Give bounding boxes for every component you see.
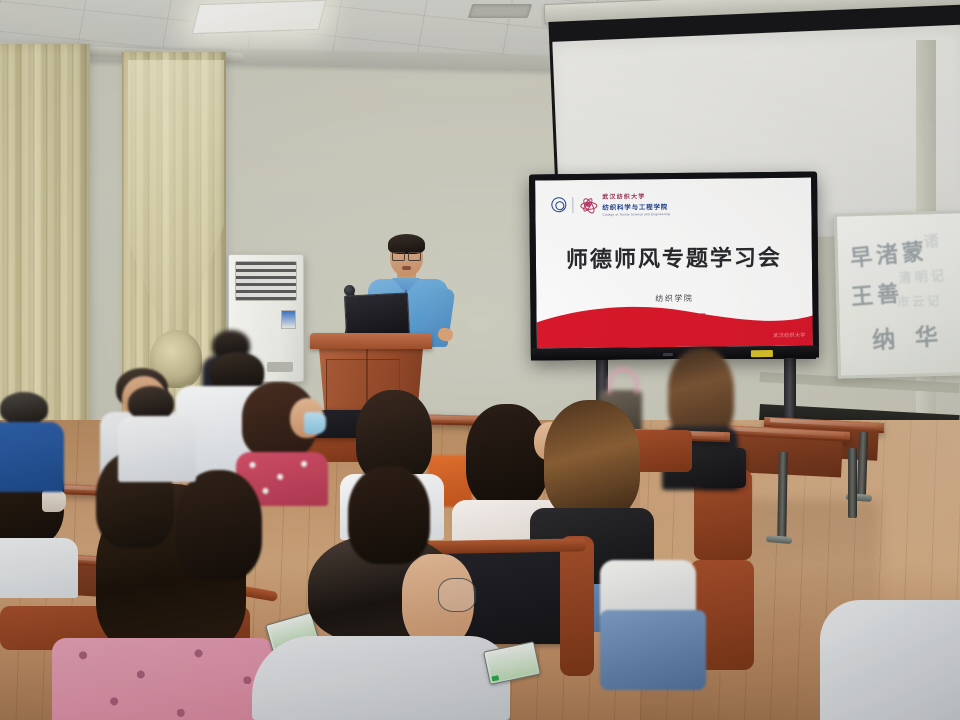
face-mask (304, 412, 326, 434)
tv-bezel (529, 171, 819, 360)
person-shirt (0, 422, 64, 492)
person-jeans (600, 610, 706, 690)
whiteboard-faint-writing-3: 市 云 记 (897, 292, 939, 310)
air-conditioner-label (281, 310, 296, 329)
whiteboard[interactable]: 早渚蒙 王善 纳 华 诸 清 明 记 市 云 记 (834, 210, 960, 378)
whiteboard-faint-writing-2: 清 明 记 (898, 265, 945, 287)
speaker-hair (388, 234, 425, 254)
seat-front-center-frame-right[interactable] (560, 536, 594, 676)
handbag-strap (608, 368, 638, 394)
whiteboard-faint-writing-1: 诸 (922, 229, 939, 252)
audience-person-front-right (820, 600, 960, 720)
person-hair (544, 400, 640, 520)
person-hair (0, 392, 48, 424)
lecture-hall-photo: Tovatech 早渚蒙 王善 纳 华 诸 清 明 记 市 云 记 (0, 0, 960, 720)
person-shirt (118, 416, 196, 482)
speaker-mouth (402, 266, 411, 270)
person-hair (176, 470, 262, 580)
person-tshirt (252, 636, 510, 720)
person-top (820, 600, 960, 720)
audience-person-extra-2 (176, 470, 272, 590)
glasses-icon (438, 578, 476, 612)
audience-person-extra-4 (118, 386, 198, 482)
desk-leg (848, 448, 857, 518)
podium-top-surface (310, 333, 432, 349)
face-mask (42, 490, 66, 512)
desk-leg (777, 452, 788, 540)
tv-stand-post-right (784, 356, 796, 420)
person-pink-top (52, 638, 274, 720)
audience-person-extra-3 (348, 466, 444, 576)
audience-person-right-jeans (600, 560, 710, 720)
tv-display[interactable]: 武汉纺织大学 纺织科学与工程学院 College of Textile Scie… (529, 171, 819, 360)
laptop-lid (344, 292, 410, 337)
ceiling-vent (468, 4, 533, 18)
whiteboard-writing-line-3: 纳 华 (871, 317, 946, 355)
audience-person-blue-shirt (0, 392, 70, 492)
tv-warning-sticker (751, 350, 773, 357)
person-hair (128, 386, 174, 420)
ceiling-light-panel (192, 0, 327, 34)
air-conditioner-louvers (235, 261, 297, 301)
person-hair (348, 466, 430, 564)
laptop[interactable] (344, 292, 410, 337)
glasses-icon (392, 252, 421, 259)
